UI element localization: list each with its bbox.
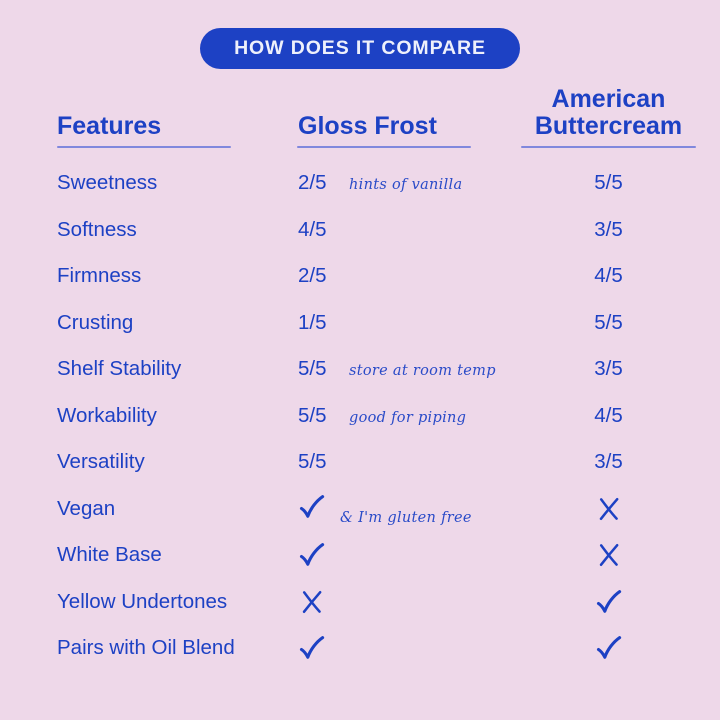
column-header-gloss-frost: Gloss Frost [289,113,521,149]
check-icon [297,633,327,663]
american-buttercream-cell: 4/5 [521,264,696,288]
american-buttercream-cell: 3/5 [521,218,696,242]
gloss-frost-score: 2/5 [298,171,336,195]
column-header-american-buttercream-underline [521,146,696,148]
feature-label: Crusting [57,311,289,335]
feature-label: Pairs with Oil Blend [57,636,289,660]
american-buttercream-score: 5/5 [594,311,623,334]
gloss-frost-cell [289,633,521,663]
check-icon [297,492,327,522]
feature-label: Shelf Stability [57,357,289,381]
american-buttercream-cell [521,494,696,524]
feature-label: Vegan [57,497,289,521]
table-row: Versatility5/53/5 [0,439,720,486]
column-header-american-line2: Buttercream [521,113,696,140]
title-banner: HOW DOES IT COMPARE [0,28,720,69]
feature-label: Softness [57,218,289,242]
gloss-frost-note: hints of vanilla [349,177,462,193]
gloss-frost-cell: 1/5 [289,311,521,335]
american-buttercream-cell: 3/5 [521,357,696,381]
column-header-gloss-frost-underline [297,146,471,148]
american-buttercream-score: 3/5 [594,450,623,473]
column-header-gloss-frost-label: Gloss Frost [289,113,521,147]
american-buttercream-score: 3/5 [594,218,623,241]
column-header-american-buttercream-label: American Buttercream [521,86,696,146]
check-icon [594,587,624,617]
gloss-frost-note: store at room temp [349,363,496,379]
gloss-frost-note: & I'm gluten free [340,510,472,526]
gloss-frost-cell: 5/5 [289,450,521,474]
american-buttercream-cell: 5/5 [521,171,696,195]
american-buttercream-cell [521,587,696,617]
american-buttercream-cell: 5/5 [521,311,696,335]
gloss-frost-cell: 2/5hints of vanilla [289,171,521,195]
gloss-frost-cell: & I'm gluten free [289,492,521,526]
gloss-frost-cell [289,540,521,570]
table-row: Softness4/53/5 [0,207,720,254]
feature-label: White Base [57,543,289,567]
american-buttercream-cell: 3/5 [521,450,696,474]
gloss-frost-score: 5/5 [298,450,336,474]
column-header-features: Features [57,113,289,149]
american-buttercream-score: 3/5 [594,357,623,380]
american-buttercream-score: 5/5 [594,171,623,194]
american-buttercream-score: 4/5 [594,264,623,287]
page-title: HOW DOES IT COMPARE [200,28,520,69]
column-header-american-line1: American [521,86,696,113]
gloss-frost-score: 1/5 [298,311,336,335]
check-icon [594,633,624,663]
gloss-frost-score: 5/5 [298,404,336,428]
table-row: Crusting1/55/5 [0,300,720,347]
gloss-frost-score: 2/5 [298,264,336,288]
table-body: Sweetness2/5hints of vanilla5/5Softness4… [0,160,720,672]
gloss-frost-cell: 5/5store at room temp [289,357,521,381]
table-row: Pairs with Oil Blend [0,625,720,672]
table-row: Workability5/5good for piping4/5 [0,393,720,440]
table-row: Shelf Stability5/5store at room temp3/5 [0,346,720,393]
check-icon [297,540,327,570]
gloss-frost-cell: 5/5good for piping [289,404,521,428]
cross-icon [297,587,327,617]
american-buttercream-cell [521,633,696,663]
american-buttercream-cell: 4/5 [521,404,696,428]
cross-icon [594,494,624,524]
gloss-frost-cell: 2/5 [289,264,521,288]
table-row: Sweetness2/5hints of vanilla5/5 [0,160,720,207]
american-buttercream-cell [521,540,696,570]
table-row: White Base [0,532,720,579]
gloss-frost-cell [289,587,521,617]
gloss-frost-score: 5/5 [298,357,336,381]
table-row: Firmness2/54/5 [0,253,720,300]
feature-label: Yellow Undertones [57,590,289,614]
comparison-table: Features Gloss Frost American Buttercrea… [0,86,720,672]
feature-label: Firmness [57,264,289,288]
comparison-infographic: HOW DOES IT COMPARE Features Gloss Frost… [0,0,720,720]
feature-label: Sweetness [57,171,289,195]
american-buttercream-score: 4/5 [594,404,623,427]
gloss-frost-cell: 4/5 [289,218,521,242]
gloss-frost-score: 4/5 [298,218,336,242]
column-header-features-label: Features [57,113,289,147]
table-row: Vegan& I'm gluten free [0,486,720,533]
feature-label: Workability [57,404,289,428]
column-header-american-buttercream: American Buttercream [521,86,696,148]
cross-icon [594,540,624,570]
feature-label: Versatility [57,450,289,474]
column-header-features-underline [57,146,231,148]
table-row: Yellow Undertones [0,579,720,626]
gloss-frost-note: good for piping [349,410,466,426]
table-header-row: Features Gloss Frost American Buttercrea… [0,86,720,148]
